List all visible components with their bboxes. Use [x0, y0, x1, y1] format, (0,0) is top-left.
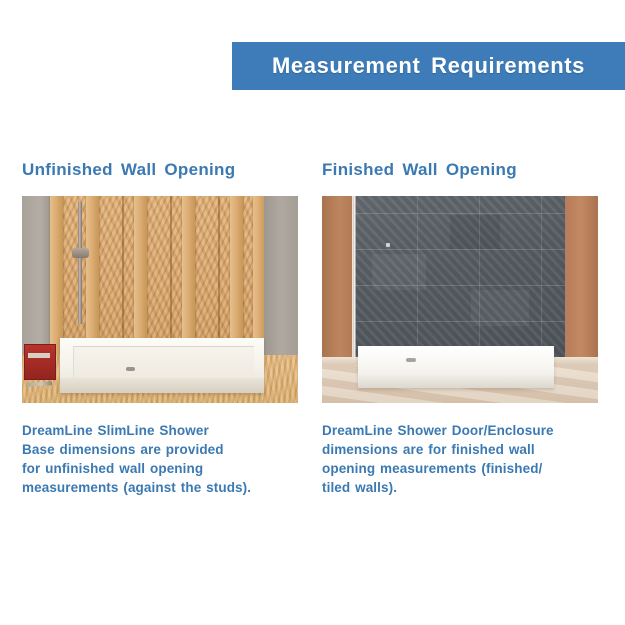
- wall-stud: [230, 196, 243, 356]
- wall-stud: [50, 196, 63, 356]
- wall-stud: [182, 196, 195, 356]
- shower-base-unfinished: [60, 338, 264, 393]
- tiled-wall: [355, 196, 565, 358]
- caption-finished: DreamLine Shower Door/Enclosure dimensio…: [322, 421, 612, 497]
- wall-stud: [86, 196, 99, 356]
- painted-wall-right: [564, 196, 598, 372]
- column-heading-unfinished: Unfinished Wall Opening: [22, 160, 312, 180]
- drain-icon: [406, 358, 416, 362]
- photo-unfinished-wall-opening: [22, 196, 298, 403]
- column-unfinished-wall-opening: Unfinished Wall Opening: [22, 160, 312, 497]
- tile-variation: [372, 254, 427, 290]
- drain-icon: [126, 367, 135, 371]
- shower-base-finished: [358, 346, 554, 388]
- shower-base-apron: [60, 378, 264, 393]
- header-banner: Measurement Requirements: [232, 42, 625, 90]
- tile-variation: [450, 215, 500, 249]
- painted-wall-left: [322, 196, 354, 364]
- shower-base-apron: [358, 375, 554, 388]
- drywall-right-icon: [264, 196, 298, 374]
- drywall-left-icon: [22, 196, 52, 356]
- comparison-columns: Unfinished Wall Opening: [0, 160, 625, 540]
- caption-unfinished: DreamLine SlimLine Shower Base dimension…: [22, 421, 312, 497]
- tile-variation: [471, 290, 530, 326]
- shower-base-pan: [73, 346, 254, 377]
- panel-seam: [218, 196, 220, 356]
- toolbox-icon: [24, 344, 56, 380]
- panel-seam: [170, 196, 172, 356]
- page-title: Measurement Requirements: [272, 53, 585, 79]
- pipe-valve-icon: [72, 248, 89, 258]
- glass-edge: [352, 196, 356, 374]
- wall-anchor-icon: [386, 243, 390, 247]
- wall-stud: [134, 196, 147, 356]
- supply-pipe-icon: [78, 202, 82, 324]
- column-heading-finished: Finished Wall Opening: [322, 160, 612, 180]
- column-finished-wall-opening: Finished Wall Opening DreamLine Shower D…: [322, 160, 612, 497]
- toolbox-lid: [28, 353, 50, 358]
- panel-seam: [122, 196, 124, 356]
- photo-finished-wall-opening: [322, 196, 598, 403]
